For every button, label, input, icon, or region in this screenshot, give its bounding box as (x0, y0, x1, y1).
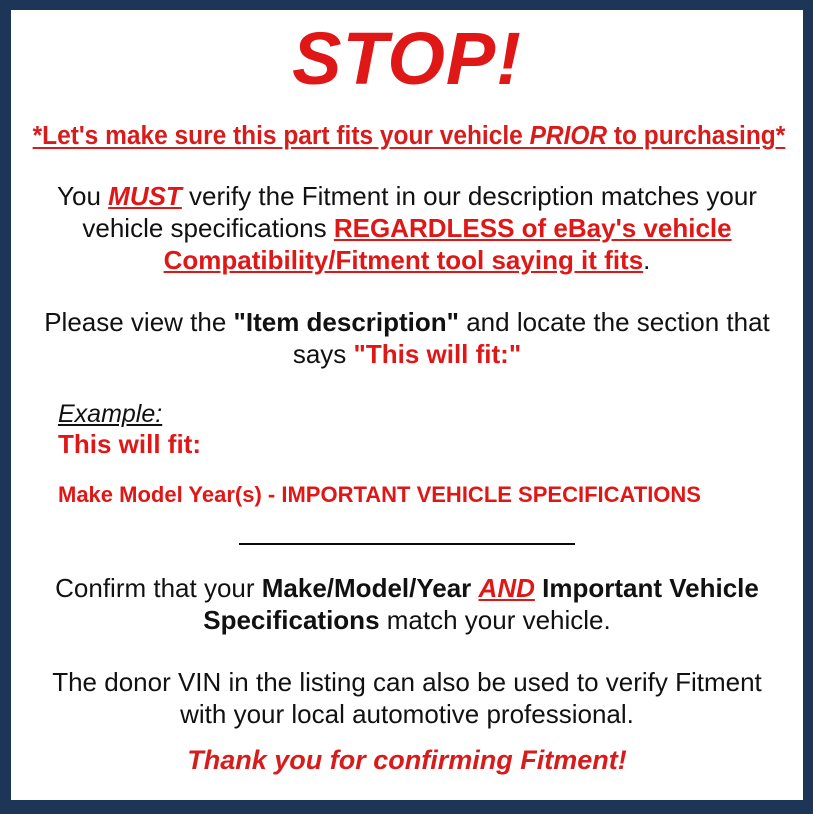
notice-sheet: STOP! *Let's make sure this part fits yo… (11, 10, 803, 800)
desc-text-part1: Please view the (44, 307, 233, 337)
example-label: Example: (58, 401, 803, 429)
must-text-part3: . (643, 245, 650, 275)
subtitle-text-after: to purchasing* (607, 122, 785, 150)
page-title: STOP! (11, 22, 803, 96)
example-spec-line: Make Model Year(s) - IMPORTANT VEHICLE S… (58, 482, 803, 508)
divider-wrap (11, 535, 803, 545)
confirm-space-1 (471, 573, 478, 603)
confirm-text-part1: Confirm that your (55, 573, 262, 603)
paragraph-donor-vin: The donor VIN in the listing can also be… (33, 667, 781, 731)
make-model-year-label: Make/Model/Year (262, 573, 472, 603)
subtitle-emphasis-prior: PRIOR (530, 122, 608, 150)
confirm-text-part2: match your vehicle. (380, 605, 611, 635)
must-emphasis: MUST (108, 181, 182, 211)
horizontal-divider (239, 543, 575, 545)
thanks-message: Thank you for confirming Fitment! (11, 745, 803, 776)
paragraph-must-verify: You MUST verify the Fitment in our descr… (33, 181, 781, 277)
paragraph-item-description: Please view the "Item description" and l… (33, 307, 781, 371)
notice-subtitle: *Let's make sure this part fits your veh… (33, 122, 782, 150)
paragraph-confirm: Confirm that your Make/Model/Year AND Im… (33, 573, 781, 637)
example-block: Example: This will fit: Make Model Year(… (58, 401, 803, 508)
and-emphasis: AND (479, 573, 535, 603)
must-text-part1: You (57, 181, 108, 211)
subtitle-text-before: *Let's make sure this part fits your veh… (33, 122, 530, 150)
fitment-notice-banner: STOP! *Let's make sure this part fits yo… (0, 0, 813, 814)
example-fit-heading: This will fit: (58, 430, 803, 460)
item-description-label: "Item description" (234, 307, 459, 337)
this-will-fit-quote: "This will fit:" (354, 339, 522, 369)
